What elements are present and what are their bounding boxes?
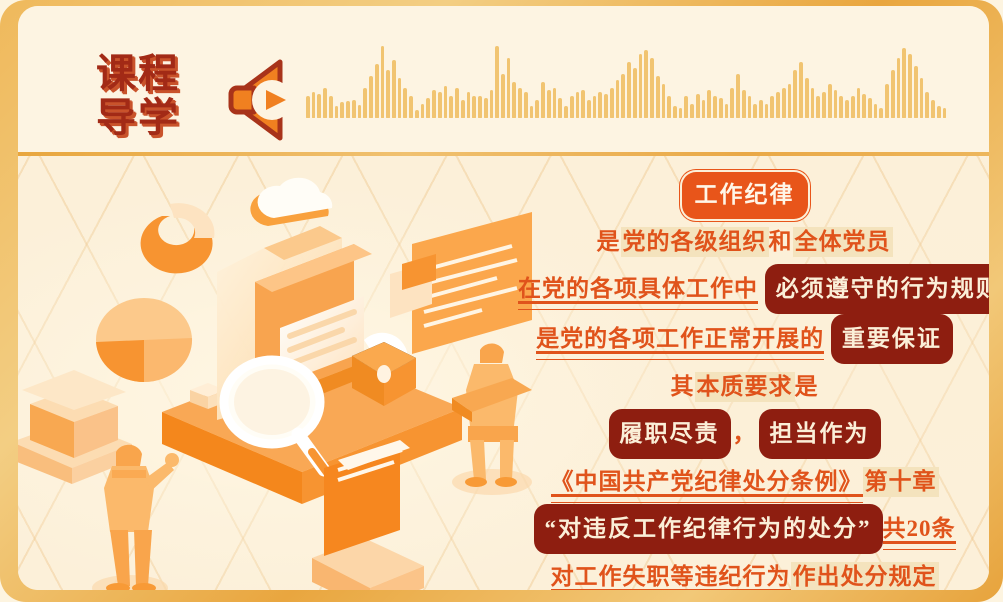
text-run: 其 [671, 374, 695, 399]
waveform-bar [541, 82, 545, 118]
badge-dark-red: “对违反工作纪律行为的处分” [534, 504, 883, 554]
poster-canvas: 课程 导学 [0, 0, 1003, 602]
waveform-bar [461, 100, 465, 118]
waveform-bar [828, 84, 832, 118]
waveform-bar [598, 92, 602, 118]
waveform-bar [805, 78, 809, 118]
waveform-bar [925, 92, 929, 118]
waveform-bar [811, 88, 815, 118]
underlined-text: 共20条 [883, 516, 956, 543]
waveform-bar [375, 64, 379, 118]
waveform-bar [329, 96, 333, 118]
waveform-bar [547, 90, 551, 118]
waveform-bar [644, 50, 648, 118]
waveform-bar [386, 70, 390, 118]
waveform-bar [650, 58, 654, 118]
badge-dark-red: 重要保证 [831, 314, 953, 364]
page-title-line-2: 导学 [96, 96, 216, 140]
underlined-text: 对工作失职等违纪行为 [551, 564, 791, 590]
highlight-text: 本质要求 [695, 372, 795, 402]
waveform-bar [587, 100, 591, 118]
line-6: 履职尽责，担当作为 [518, 409, 971, 459]
waveform-bar [885, 84, 889, 118]
waveform-bar [346, 101, 350, 118]
underlined-text: 是党的各项工作正常开展的 [536, 326, 824, 353]
badge-dark-red: 必须遵守的行为规则 [765, 264, 989, 314]
highlight-text: 全体党员 [793, 227, 893, 257]
waveform-bar [770, 96, 774, 118]
waveform-bar [593, 96, 597, 118]
waveform-bar [719, 98, 723, 118]
waveform-bar [633, 68, 637, 118]
waveform-bar [369, 76, 373, 118]
waveform-bar [576, 92, 580, 118]
line-3: 在党的各项具体工作中 必须遵守的行为规则 [518, 264, 971, 314]
waveform-bar [449, 96, 453, 118]
waveform-bar [868, 98, 872, 118]
text-run: 是 [795, 374, 819, 399]
poster-inner: 课程 导学 [18, 6, 989, 590]
line-8: “对违反工作纪律行为的处分”共20条 [518, 504, 971, 554]
line-5: 其本质要求是 [518, 364, 971, 409]
waveform-bar [862, 94, 866, 118]
waveform-bar [438, 92, 442, 118]
waveform-bar [398, 78, 402, 118]
content-area: 工作纪律是党的各级组织和全体党员在党的各项具体工作中 必须遵守的行为规则是党的各… [18, 156, 989, 590]
waveform-bar [684, 96, 688, 118]
highlight-text: 第十章 [863, 467, 939, 497]
waveform-bar [902, 48, 906, 118]
waveform-bar [421, 104, 425, 118]
waveform-bar [426, 98, 430, 118]
waveform-bar [782, 88, 786, 118]
waveform-bar [937, 106, 941, 118]
waveform-bar [444, 86, 448, 118]
waveform-bar [742, 90, 746, 118]
waveform-bar [857, 88, 861, 118]
page-title-line-1: 课程 [96, 52, 216, 96]
text-run [758, 276, 765, 301]
waveform-bar [713, 96, 717, 118]
waveform-bar [799, 62, 803, 118]
waveform-bar [879, 108, 883, 118]
line-2: 是党的各级组织和全体党员 [518, 219, 971, 264]
waveform-bar [759, 100, 763, 118]
waveform-bar [392, 60, 396, 118]
waveform-bar [788, 84, 792, 118]
highlight-text: 作出处分规定 [791, 562, 939, 590]
waveform-bar [358, 105, 362, 118]
waveform-bar [381, 46, 385, 118]
waveform-bar [908, 54, 912, 118]
waveform-bar [564, 106, 568, 118]
waveform-bar [851, 96, 855, 118]
waveform-bar [604, 94, 608, 118]
waveform-bar [793, 70, 797, 118]
page-title: 课程 导学 [96, 52, 216, 144]
waveform-bar [891, 70, 895, 118]
waveform-bar [914, 66, 918, 118]
waveform-bar [822, 92, 826, 118]
waveform-bar [639, 54, 643, 118]
waveform-bar [490, 90, 494, 118]
text-run: 和 [769, 229, 793, 254]
waveform-bar [312, 92, 316, 118]
waveform-bar [943, 108, 947, 118]
waveform-bar [512, 82, 516, 118]
waveform-bar [518, 88, 522, 118]
waveform-bar [455, 88, 459, 118]
waveform-bar [656, 76, 660, 118]
waveform-bar [931, 100, 935, 118]
waveform-bar [753, 104, 757, 118]
speaker-play-icon [226, 56, 312, 148]
text-run: 是 [597, 229, 621, 254]
waveform-bar [616, 80, 620, 118]
waveform-bar [467, 92, 471, 118]
waveform-bar [897, 58, 901, 118]
waveform-bar [834, 90, 838, 118]
waveform-bar [432, 90, 436, 118]
waveform-bar [478, 96, 482, 118]
waveform-bar [765, 104, 769, 118]
waveform-bar [323, 88, 327, 118]
pie-chart-icon [96, 298, 192, 382]
badge-dark-red: 担当作为 [759, 409, 881, 459]
statement-text-block: 工作纪律是党的各级组织和全体党员在党的各项具体工作中 必须遵守的行为规则是党的各… [518, 172, 971, 590]
highlight-text: 党的各级组织 [621, 227, 769, 257]
waveform-bar [403, 88, 407, 118]
waveform-bar [696, 94, 700, 118]
waveform-bar [627, 62, 631, 118]
cloud-icon [250, 178, 332, 226]
waveform-bar [535, 100, 539, 118]
waveform-bar [816, 96, 820, 118]
audio-waveform [306, 40, 946, 118]
underlined-text: 《中国共产党纪律处分条例》 [551, 469, 863, 496]
badge-orange: 工作纪律 [682, 172, 808, 219]
waveform-bar [662, 84, 666, 118]
waveform-bar [553, 88, 557, 118]
waveform-bar [524, 92, 528, 118]
waveform-bar [776, 92, 780, 118]
waveform-bar [363, 88, 367, 118]
waveform-bar [610, 88, 614, 118]
waveform-bar [530, 106, 534, 118]
waveform-bar [340, 102, 344, 118]
waveform-bar [581, 90, 585, 118]
waveform-bar [409, 96, 413, 118]
waveform-bar [667, 96, 671, 118]
isometric-office-data-illustration [18, 156, 532, 590]
waveform-bar [748, 96, 752, 118]
waveform-bar [690, 104, 694, 118]
waveform-bar [306, 96, 310, 118]
text-run: ， [731, 421, 759, 446]
text-run [824, 326, 831, 351]
line-1: 工作纪律 [518, 172, 971, 219]
waveform-bar [725, 104, 729, 118]
badge-dark-red: 履职尽责 [609, 409, 731, 459]
line-7: 《中国共产党纪律处分条例》第十章 [518, 459, 971, 504]
waveform-bar [317, 94, 321, 118]
waveform-bar [707, 90, 711, 118]
waveform-bar [472, 96, 476, 118]
waveform-bar [673, 106, 677, 118]
line-4: 是党的各项工作正常开展的 重要保证 [518, 314, 971, 364]
waveform-bar [335, 106, 339, 118]
waveform-bar [484, 98, 488, 118]
waveform-bar [702, 100, 706, 118]
waveform-bar [845, 100, 849, 118]
waveform-bar [920, 78, 924, 118]
waveform-bar [415, 110, 419, 118]
waveform-bar [874, 104, 878, 118]
waveform-bar [570, 96, 574, 118]
waveform-bar [730, 88, 734, 118]
donut-chart-icon [141, 203, 215, 273]
waveform-bar [501, 74, 505, 118]
waveform-bar [495, 46, 499, 118]
waveform-bar [507, 58, 511, 118]
waveform-bar [621, 74, 625, 118]
line-9: 对工作失职等违纪行为作出处分规定 [518, 554, 971, 590]
waveform-bar [352, 100, 356, 118]
waveform-bar [558, 98, 562, 118]
underlined-text: 在党的各项具体工作中 [518, 276, 758, 303]
waveform-bar [839, 96, 843, 118]
waveform-bar [679, 108, 683, 118]
waveform-bar [736, 74, 740, 118]
header-band: 课程 导学 [18, 6, 989, 152]
